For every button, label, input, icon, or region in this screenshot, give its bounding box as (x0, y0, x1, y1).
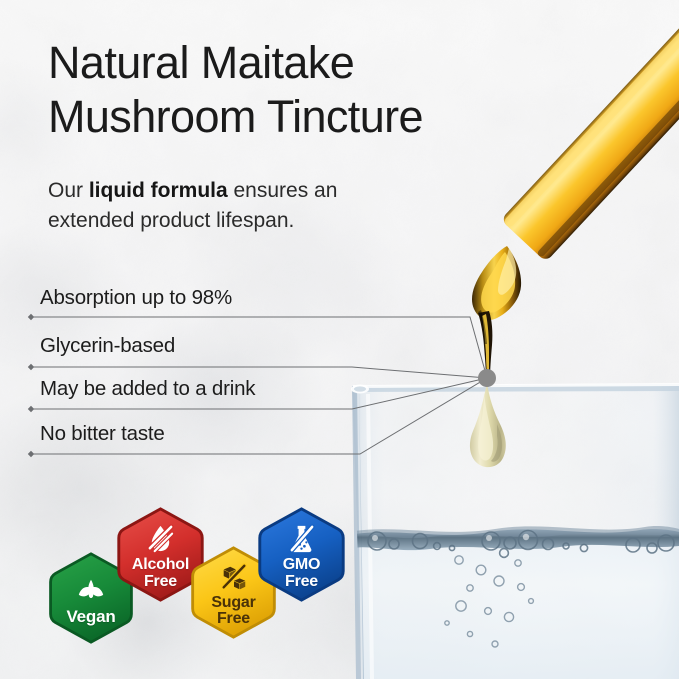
badge-gmo-free[interactable]: GMO Free (253, 506, 350, 603)
flask-slash-icon (286, 523, 317, 554)
badge-label-vegan: Vegan (66, 608, 115, 626)
badge-label-alcohol-free: Alcohol Free (132, 557, 189, 590)
badge-label-gmo-free: GMO Free (283, 557, 321, 590)
badge-label-sugar-free: Sugar Free (211, 595, 255, 628)
droplet-slash-icon (145, 523, 176, 554)
certification-badges: Vegan (0, 0, 679, 679)
product-infographic: Natural Maitake Mushroom Tincture Our li… (0, 0, 679, 679)
sugar-cubes-slash-icon (219, 562, 249, 592)
leaf-icon (76, 575, 106, 605)
